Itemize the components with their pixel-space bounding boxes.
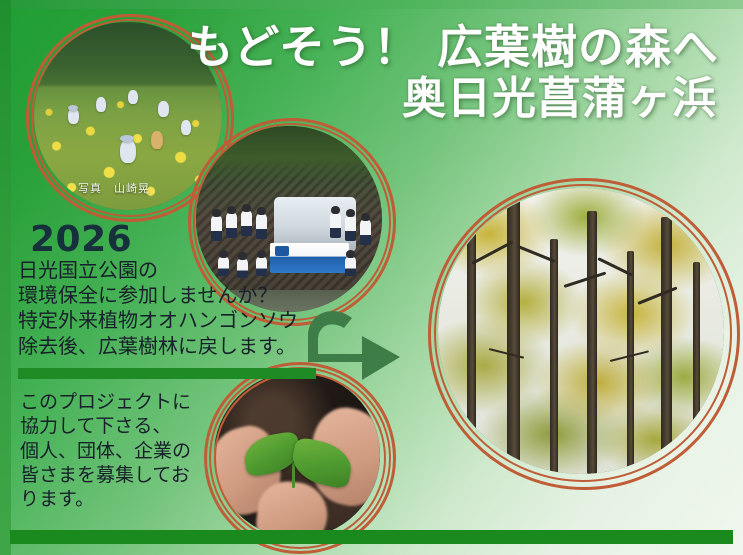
- meadow-volunteer: [120, 139, 136, 163]
- meadow-volunteer: [158, 101, 169, 117]
- student-figure: [226, 212, 237, 238]
- students-vegetation: [196, 126, 382, 182]
- forest-artwork: [438, 188, 724, 474]
- tree-trunk: [693, 262, 700, 474]
- divider-bar-bottom: [10, 530, 733, 544]
- student-figure: [211, 215, 222, 241]
- left-edge-strip: [0, 0, 11, 555]
- photo-seedling-hands: [214, 372, 380, 538]
- meadow-volunteer-hat: [68, 105, 78, 111]
- meadow-treeline: [34, 22, 222, 86]
- tree-trunk: [550, 239, 558, 474]
- tree-trunk: [507, 199, 520, 474]
- top-edge-strip: [0, 0, 743, 9]
- tree-trunk: [587, 211, 597, 474]
- tree-trunk: [627, 251, 634, 474]
- student-figure: [330, 212, 341, 238]
- student-figure: [360, 219, 371, 245]
- intro-paragraph: 日光国立公園の 環境保全に参加しませんか？ 特定外来植物オオハンゴンソウ 除去後…: [18, 258, 348, 359]
- year-label: 2026: [30, 219, 132, 260]
- meadow-volunteer: [181, 120, 191, 135]
- forest-canopy: [438, 188, 724, 474]
- meadow-volunteer: [96, 97, 106, 112]
- photo-credit-label: 写真 山崎晃: [78, 180, 150, 196]
- divider-bar-middle: [18, 368, 316, 379]
- recruitment-paragraph: このプロジェクトに 協力して下さる、 個人、団体、企業の 皆さまを募集してお り…: [20, 390, 230, 512]
- tree-trunk: [661, 217, 672, 474]
- student-figure: [241, 210, 252, 236]
- student-figure: [256, 213, 267, 239]
- meadow-volunteer: [68, 108, 79, 124]
- photo-autumn-forest: [438, 188, 724, 474]
- meadow-volunteer-hat: [120, 135, 134, 142]
- student-figure: [345, 215, 356, 241]
- meadow-volunteer: [151, 131, 163, 149]
- poster-canvas: 写真 山崎晃: [0, 0, 743, 555]
- meadow-volunteer: [128, 90, 138, 104]
